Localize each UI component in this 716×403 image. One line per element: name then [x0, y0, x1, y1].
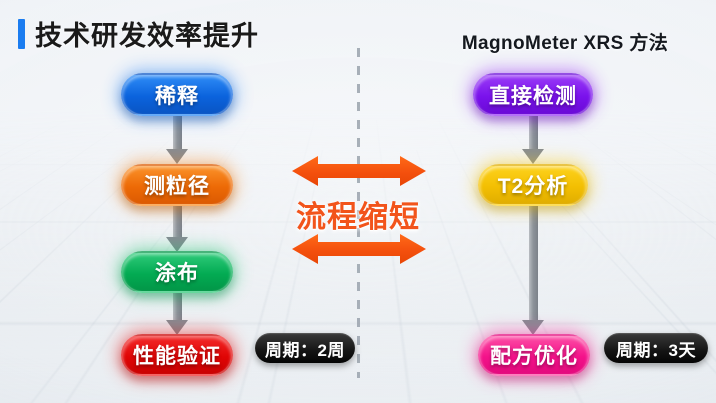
flow-node-right-2[interactable]: T2分析	[478, 164, 588, 206]
slide-canvas: 技术研发效率提升 MagnoMeter XRS 方法 稀释 测粒径 涂布 性能验…	[0, 0, 716, 403]
flow-node-left-3[interactable]: 涂布	[121, 251, 233, 293]
flow-node-right-3[interactable]: 配方优化	[478, 334, 590, 376]
connector-left-3-4	[121, 293, 233, 335]
connector-left-1-2	[121, 116, 233, 164]
double-arrow-top-icon	[292, 156, 426, 186]
connector-right-2-3	[473, 206, 593, 335]
title-accent-bar	[18, 19, 25, 49]
flow-node-left-1[interactable]: 稀释	[121, 73, 233, 116]
right-period-badge: 周期：3天	[604, 333, 708, 363]
left-period-badge: 周期：2周	[255, 333, 355, 363]
connector-left-2-3	[121, 206, 233, 252]
connector-right-1-2	[473, 116, 593, 164]
flow-node-left-4[interactable]: 性能验证	[121, 334, 233, 376]
shorten-label: 流程缩短	[263, 192, 453, 236]
double-arrow-bottom-icon	[292, 234, 426, 264]
flow-node-left-2[interactable]: 测粒径	[121, 164, 233, 206]
left-title-text: 技术研发效率提升	[35, 14, 259, 53]
flow-node-right-1[interactable]: 直接检测	[473, 73, 593, 116]
right-section-title: MagnoMeter XRS 方法	[430, 28, 700, 55]
left-section-title: 技术研发效率提升	[18, 14, 259, 53]
